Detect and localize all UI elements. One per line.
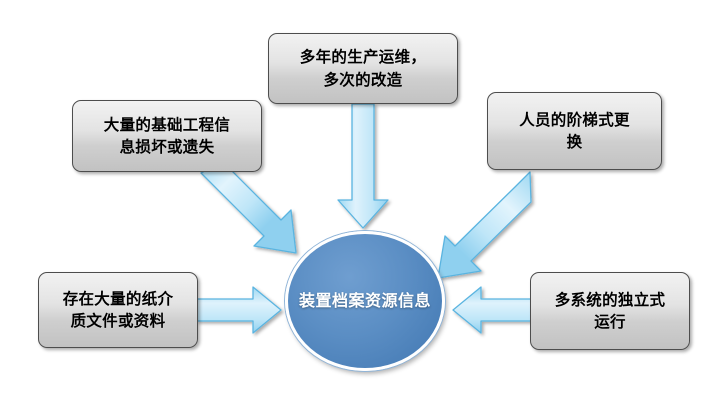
arrow-top-down <box>338 104 388 228</box>
arrow-right-left <box>453 287 531 333</box>
node-top-left-label: 大量的基础工程信 息损坏或遗失 <box>104 114 230 159</box>
node-top[interactable]: 多年的生产运维， 多次的改造 <box>268 33 458 104</box>
arrow-left-right <box>197 287 281 333</box>
node-top-right[interactable]: 人员的阶梯式更 换 <box>487 92 662 170</box>
hub-label: 装置档案资源信息 <box>299 289 431 314</box>
hub-node[interactable]: 装置档案资源信息 <box>285 231 445 371</box>
node-left[interactable]: 存在大量的纸介 质文件或资料 <box>38 272 198 348</box>
node-top-left[interactable]: 大量的基础工程信 息损坏或遗失 <box>72 100 262 172</box>
node-top-right-label: 人员的阶梯式更 换 <box>519 109 630 154</box>
arrow-topright-diagonal <box>438 172 531 278</box>
node-right-label: 多系统的独立式 运行 <box>555 289 666 334</box>
diagram-canvas: 装置档案资源信息 多年的生产运维， 多次的改造 大量的基础工程信 息损坏或遗失 … <box>0 0 723 417</box>
node-right[interactable]: 多系统的独立式 运行 <box>530 272 690 350</box>
node-top-label: 多年的生产运维， 多次的改造 <box>300 46 426 91</box>
node-left-label: 存在大量的纸介 质文件或资料 <box>63 288 174 333</box>
